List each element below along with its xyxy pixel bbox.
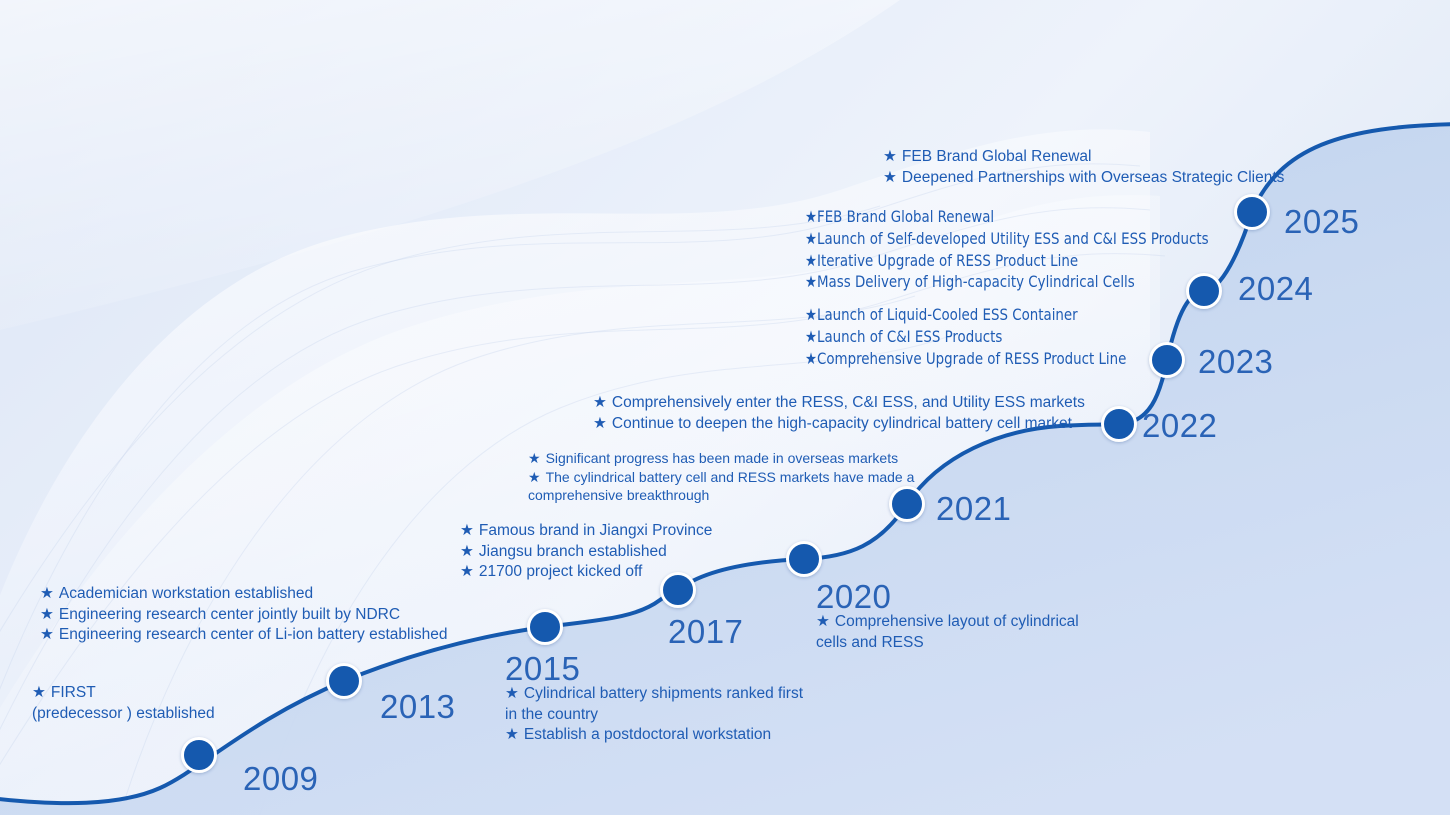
event-block-2024: ★FEB Brand Global Renewal★Launch of Self… — [805, 206, 1209, 293]
event-item: ★FEB Brand Global Renewal — [883, 147, 1284, 168]
event-item: ★The cylindrical battery cell and RESS m… — [528, 468, 914, 487]
year-label-2017: 2017 — [668, 615, 743, 648]
event-item: ★Engineering research center of Li-ion b… — [40, 625, 448, 646]
star-bullet-icon: ★ — [460, 562, 474, 583]
star-bullet-icon: ★ — [40, 605, 54, 626]
event-text: Comprehensively enter the RESS, C&I ESS,… — [612, 394, 1085, 411]
event-item: ★FIRST — [32, 683, 215, 704]
event-block-2025: ★FEB Brand Global Renewal★Deepened Partn… — [883, 147, 1284, 188]
event-text: Significant progress has been made in ov… — [546, 450, 899, 466]
event-block-2009: ★FIRST(predecessor ) established — [32, 683, 215, 724]
event-item-continuation: (predecessor ) established — [32, 704, 215, 725]
event-block-2021: ★Significant progress has been made in o… — [528, 449, 914, 505]
event-text: Comprehensive Upgrade of RESS Product Li… — [817, 349, 1126, 368]
event-item-continuation: comprehensive breakthrough — [528, 486, 914, 505]
event-block-2015: ★Cylindrical battery shipments ranked fi… — [505, 684, 803, 746]
star-bullet-icon: ★ — [805, 326, 817, 348]
event-item: ★Launch of Liquid-Cooled ESS Container — [805, 304, 1126, 326]
event-item: ★21700 project kicked off — [460, 562, 712, 583]
star-bullet-icon: ★ — [528, 468, 541, 487]
event-text: Cylindrical battery shipments ranked fir… — [524, 685, 803, 702]
star-bullet-icon: ★ — [593, 393, 607, 414]
star-bullet-icon: ★ — [505, 684, 519, 705]
event-text: FIRST — [51, 684, 96, 701]
event-item: ★Continue to deepen the high-capacity cy… — [593, 414, 1085, 435]
event-block-2020: ★Comprehensive layout of cylindricalcell… — [816, 612, 1079, 653]
event-text: Deepened Partnerships with Overseas Stra… — [902, 169, 1285, 186]
event-text: Comprehensive layout of cylindrical — [835, 613, 1079, 630]
event-text: Engineering research center of Li-ion ba… — [59, 626, 448, 643]
year-label-2020: 2020 — [816, 580, 891, 613]
event-item: ★FEB Brand Global Renewal — [805, 206, 1209, 228]
event-text: Launch of Liquid-Cooled ESS Container — [817, 305, 1078, 324]
event-block-2017: ★Famous brand in Jiangxi Province★Jiangs… — [460, 521, 712, 583]
event-text: comprehensive breakthrough — [528, 487, 709, 503]
event-item: ★Launch of Self-developed Utility ESS an… — [805, 228, 1209, 250]
timeline-node-2009[interactable] — [181, 737, 217, 773]
event-item: ★Academician workstation established — [40, 584, 448, 605]
event-text: Famous brand in Jiangxi Province — [479, 522, 712, 539]
timeline-node-2023[interactable] — [1149, 342, 1185, 378]
event-item: ★Famous brand in Jiangxi Province — [460, 521, 712, 542]
event-item: ★Iterative Upgrade of RESS Product Line — [805, 250, 1209, 272]
event-text: in the country — [505, 706, 598, 723]
timeline-node-2013[interactable] — [326, 663, 362, 699]
year-label-2023: 2023 — [1198, 345, 1273, 378]
year-label-2025: 2025 — [1284, 205, 1359, 238]
event-item: ★Cylindrical battery shipments ranked fi… — [505, 684, 803, 705]
star-bullet-icon: ★ — [805, 206, 817, 228]
event-text: 21700 project kicked off — [479, 563, 642, 580]
event-item: ★Establish a postdoctoral workstation — [505, 725, 803, 746]
event-item: ★Launch of C&I ESS Products — [805, 326, 1126, 348]
year-label-2009: 2009 — [243, 762, 318, 795]
timeline-node-2025[interactable] — [1234, 194, 1270, 230]
year-label-2021: 2021 — [936, 492, 1011, 525]
event-text: FEB Brand Global Renewal — [817, 207, 994, 226]
event-text: Jiangsu branch established — [479, 543, 667, 560]
event-item-continuation: cells and RESS — [816, 633, 1079, 654]
timeline-node-2020[interactable] — [786, 541, 822, 577]
event-block-2022: ★Comprehensively enter the RESS, C&I ESS… — [593, 393, 1085, 434]
timeline-node-2022[interactable] — [1101, 406, 1137, 442]
star-bullet-icon: ★ — [460, 542, 474, 563]
timeline-infographic: 2009★FIRST(predecessor ) established2013… — [0, 0, 1450, 815]
star-bullet-icon: ★ — [40, 625, 54, 646]
event-block-2013: ★Academician workstation established★Eng… — [40, 584, 448, 646]
event-item: ★Significant progress has been made in o… — [528, 449, 914, 468]
star-bullet-icon: ★ — [32, 683, 46, 704]
event-text: Launch of Self-developed Utility ESS and… — [817, 229, 1209, 248]
event-item: ★Comprehensively enter the RESS, C&I ESS… — [593, 393, 1085, 414]
star-bullet-icon: ★ — [593, 414, 607, 435]
year-label-2022: 2022 — [1142, 409, 1217, 442]
event-text: FEB Brand Global Renewal — [902, 148, 1092, 165]
star-bullet-icon: ★ — [805, 228, 817, 250]
timeline-node-2015[interactable] — [527, 609, 563, 645]
event-item: ★Comprehensive layout of cylindrical — [816, 612, 1079, 633]
event-text: The cylindrical battery cell and RESS ma… — [546, 469, 915, 485]
star-bullet-icon: ★ — [40, 584, 54, 605]
star-bullet-icon: ★ — [805, 304, 817, 326]
event-text: Continue to deepen the high-capacity cyl… — [612, 415, 1072, 432]
event-text: Engineering research center jointly buil… — [59, 606, 400, 623]
event-item: ★Comprehensive Upgrade of RESS Product L… — [805, 348, 1126, 370]
star-bullet-icon: ★ — [816, 612, 830, 633]
event-item: ★Jiangsu branch established — [460, 542, 712, 563]
year-label-2013: 2013 — [380, 690, 455, 723]
event-item-continuation: in the country — [505, 705, 803, 726]
event-text: cells and RESS — [816, 634, 924, 651]
event-text: Establish a postdoctoral workstation — [524, 726, 771, 743]
year-label-2015: 2015 — [505, 652, 580, 685]
star-bullet-icon: ★ — [883, 147, 897, 168]
star-bullet-icon: ★ — [883, 168, 897, 189]
star-bullet-icon: ★ — [528, 449, 541, 468]
event-text: Iterative Upgrade of RESS Product Line — [817, 251, 1078, 270]
event-text: Launch of C&I ESS Products — [817, 327, 1002, 346]
event-item: ★Mass Delivery of High-capacity Cylindri… — [805, 271, 1209, 293]
year-label-2024: 2024 — [1238, 272, 1313, 305]
star-bullet-icon: ★ — [805, 271, 817, 293]
event-block-2023: ★Launch of Liquid-Cooled ESS Container★L… — [805, 304, 1126, 369]
event-item: ★Engineering research center jointly bui… — [40, 605, 448, 626]
event-item: ★Deepened Partnerships with Overseas Str… — [883, 168, 1284, 189]
star-bullet-icon: ★ — [805, 250, 817, 272]
star-bullet-icon: ★ — [505, 725, 519, 746]
event-text: Academician workstation established — [59, 585, 313, 602]
event-text: (predecessor ) established — [32, 705, 215, 722]
star-bullet-icon: ★ — [805, 348, 817, 370]
star-bullet-icon: ★ — [460, 521, 474, 542]
event-text: Mass Delivery of High-capacity Cylindric… — [817, 272, 1135, 291]
